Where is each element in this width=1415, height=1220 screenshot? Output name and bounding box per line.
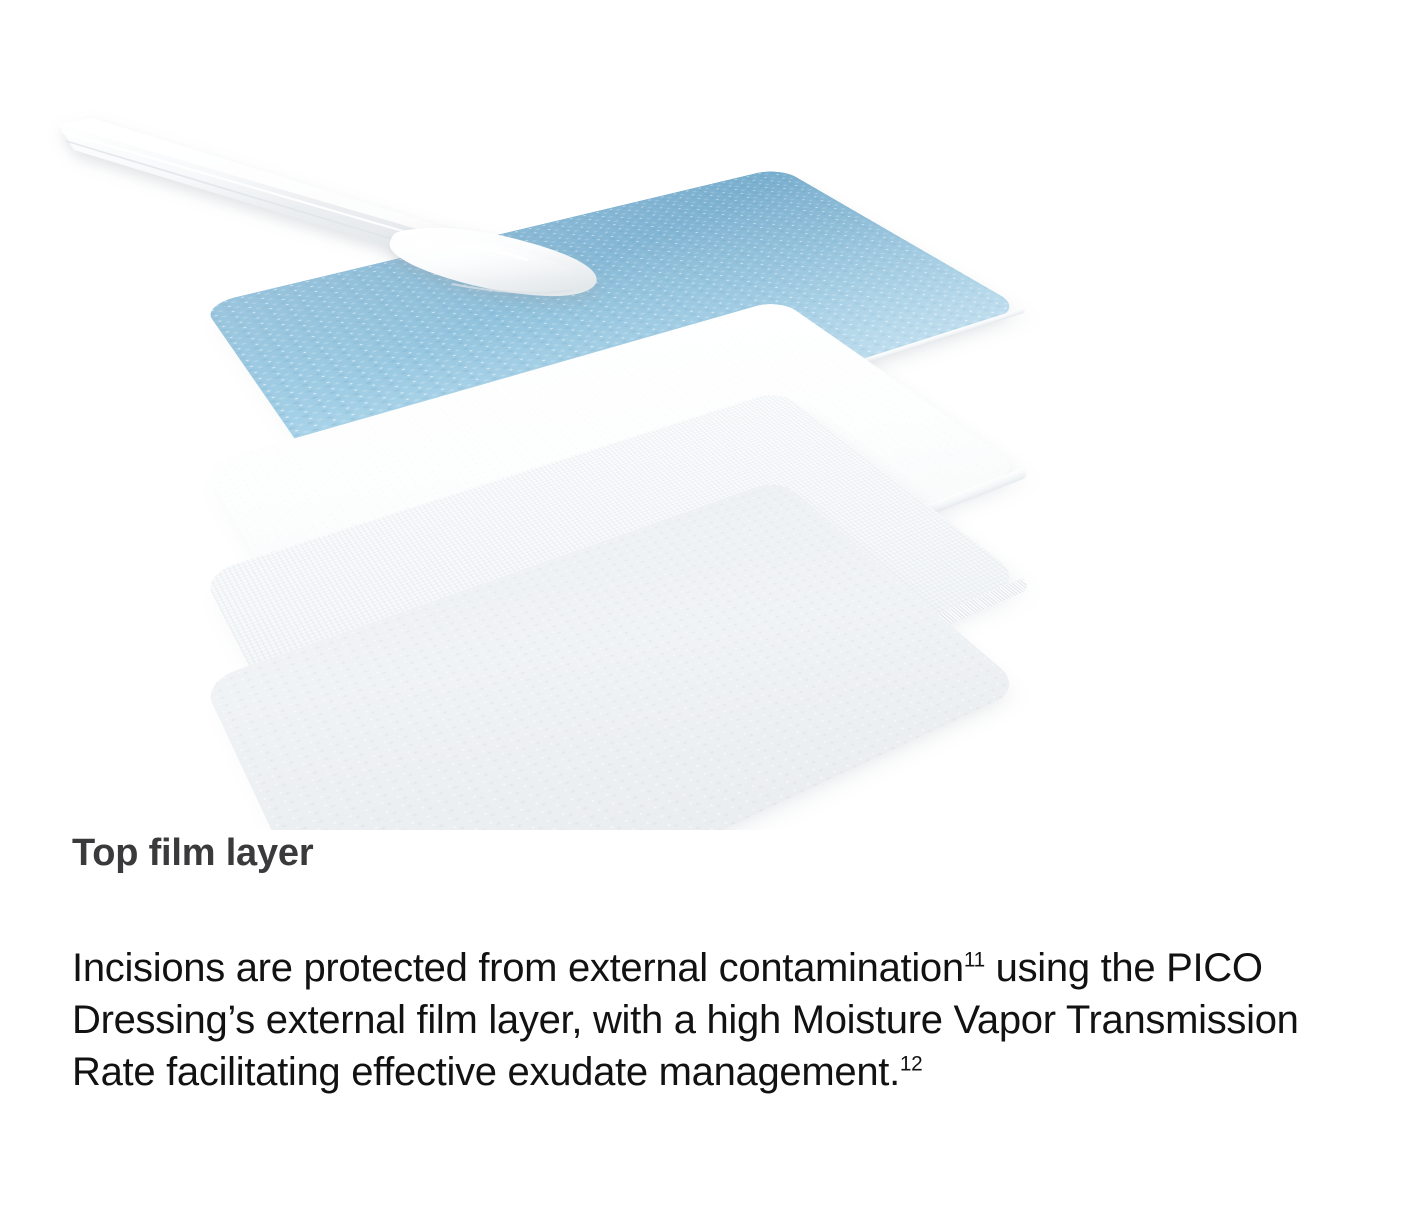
body-paragraph: Incisions are protected from external co…	[72, 876, 1322, 1098]
dressing-illustration	[0, 0, 1415, 830]
body-segment-1: Incisions are protected from external co…	[72, 946, 964, 990]
footnote-marker-11: 11	[964, 948, 985, 971]
exploded-layer-scene	[0, 0, 1415, 830]
caption-block: Top film layer Incisions are protected f…	[72, 832, 1332, 1098]
page-title: Top film layer	[72, 832, 1332, 876]
footnote-marker-12: 12	[900, 1052, 923, 1075]
